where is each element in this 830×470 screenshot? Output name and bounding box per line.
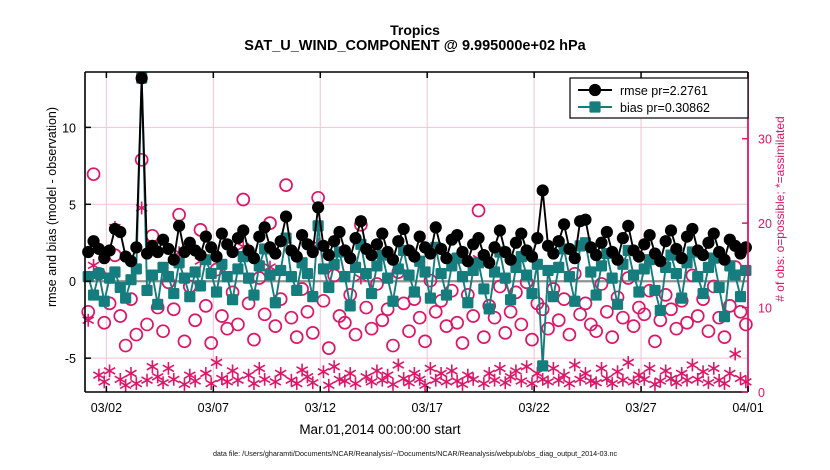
svg-text:20: 20: [758, 217, 772, 231]
svg-text:03/07: 03/07: [198, 401, 229, 415]
chart-canvas: 03/0203/0703/1203/1703/2203/2704/01-5051…: [0, 0, 830, 470]
y-axis-label-left: rmse and bias (model - observation): [45, 57, 59, 357]
y-axis-label-right: # of obs: o=possible; *=assimilated: [773, 59, 787, 359]
svg-text:0: 0: [69, 275, 76, 289]
svg-text:10: 10: [758, 302, 772, 316]
chart-legend[interactable]: rmse pr=2.2761bias pr=0.30862: [570, 78, 748, 118]
svg-text:04/01: 04/01: [732, 401, 763, 415]
data-file-caption: data file: /Users/gharamti/Documents/NCA…: [0, 449, 830, 458]
svg-text:30: 30: [758, 133, 772, 147]
svg-text:03/02: 03/02: [91, 401, 122, 415]
svg-text:0: 0: [758, 386, 765, 400]
plot-window: Tropics SAT_U_WIND_COMPONENT @ 9.995000e…: [0, 0, 830, 470]
svg-text:bias pr=0.30862: bias pr=0.30862: [620, 101, 710, 115]
x-axis-label: Mar.01,2014 00:00:00 start: [0, 422, 760, 437]
svg-text:03/17: 03/17: [412, 401, 443, 415]
svg-text:-5: -5: [65, 352, 76, 366]
svg-text:03/27: 03/27: [625, 401, 656, 415]
svg-text:rmse pr=2.2761: rmse pr=2.2761: [620, 84, 708, 98]
svg-text:03/22: 03/22: [518, 401, 549, 415]
svg-text:03/12: 03/12: [305, 401, 336, 415]
svg-text:10: 10: [62, 121, 76, 135]
svg-text:5: 5: [69, 198, 76, 212]
